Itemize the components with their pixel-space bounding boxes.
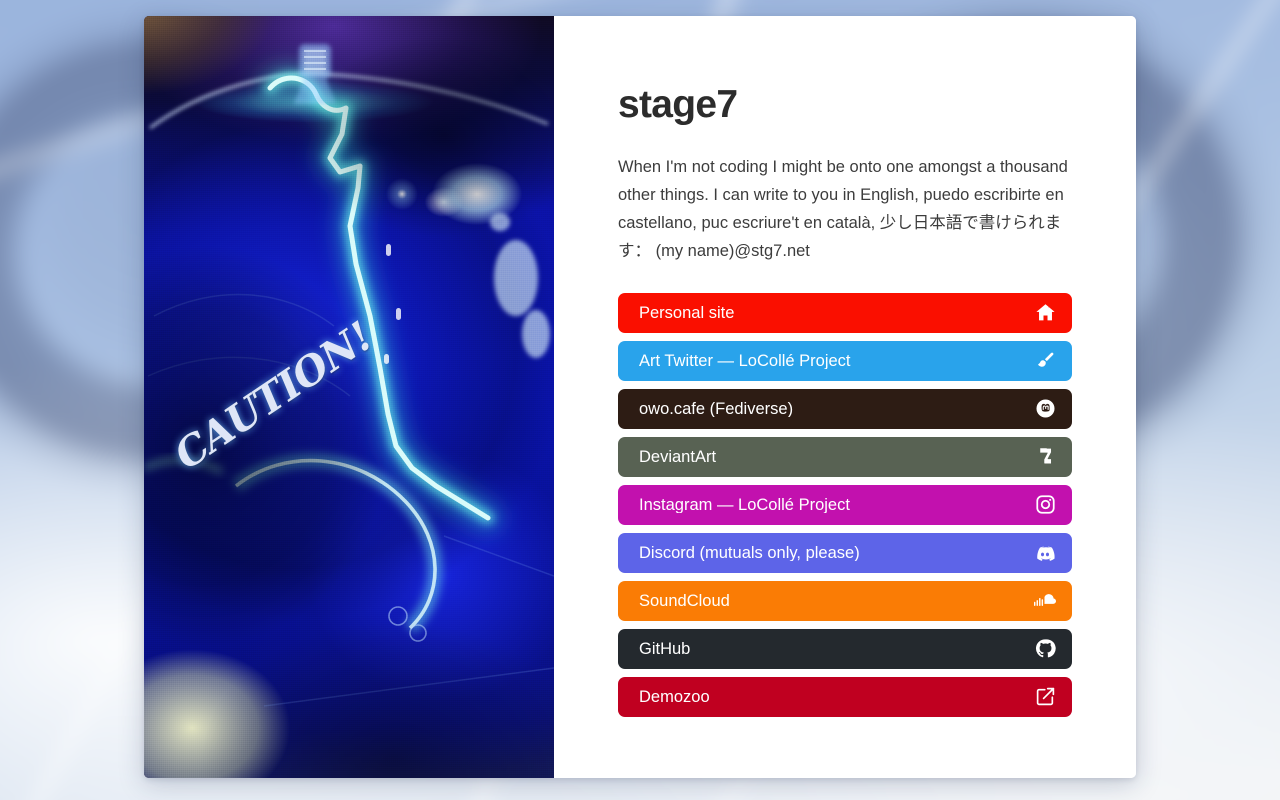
link-owo-cafe[interactable]: owo.cafe (Fediverse) [618,389,1072,429]
paintbrush-icon [1034,350,1056,372]
profile-content: stage7 When I'm not coding I might be on… [554,16,1136,778]
link-personal-site[interactable]: Personal site [618,293,1072,333]
link-label: owo.cafe (Fediverse) [639,401,793,418]
link-deviantart[interactable]: DeviantArt [618,437,1072,477]
deviantart-icon [1034,446,1056,468]
link-label: Personal site [639,305,734,322]
link-demozoo[interactable]: Demozoo [618,677,1072,717]
mastodon-icon [1034,398,1056,420]
link-label: Art Twitter — LoCollé Project [639,353,851,370]
soundcloud-icon [1034,590,1056,612]
profile-bio: When I'm not coding I might be onto one … [618,153,1070,265]
link-github[interactable]: GitHub [618,629,1072,669]
photo-grain-overlay [144,16,554,778]
link-label: GitHub [639,641,690,658]
link-label: Instagram — LoCollé Project [639,497,850,514]
link-discord[interactable]: Discord (mutuals only, please) [618,533,1072,573]
link-instagram[interactable]: Instagram — LoCollé Project [618,485,1072,525]
discord-icon [1034,542,1056,564]
profile-photo: CAUTION! [144,16,554,778]
link-label: Discord (mutuals only, please) [639,545,860,562]
profile-card: CAUTION! stage7 When I'm not coding I mi… [144,16,1136,778]
link-art-twitter[interactable]: Art Twitter — LoCollé Project [618,341,1072,381]
link-label: SoundCloud [639,593,730,610]
link-soundcloud[interactable]: SoundCloud [618,581,1072,621]
github-icon [1034,638,1056,660]
instagram-icon [1034,494,1056,516]
link-label: Demozoo [639,689,710,706]
page-root: CAUTION! stage7 When I'm not coding I mi… [0,0,1280,800]
home-icon [1034,302,1056,324]
link-label: DeviantArt [639,449,716,466]
link-list: Personal site Art Twitter — LoCollé Proj… [618,293,1072,717]
external-link-icon [1034,686,1056,708]
page-title: stage7 [618,84,1072,127]
